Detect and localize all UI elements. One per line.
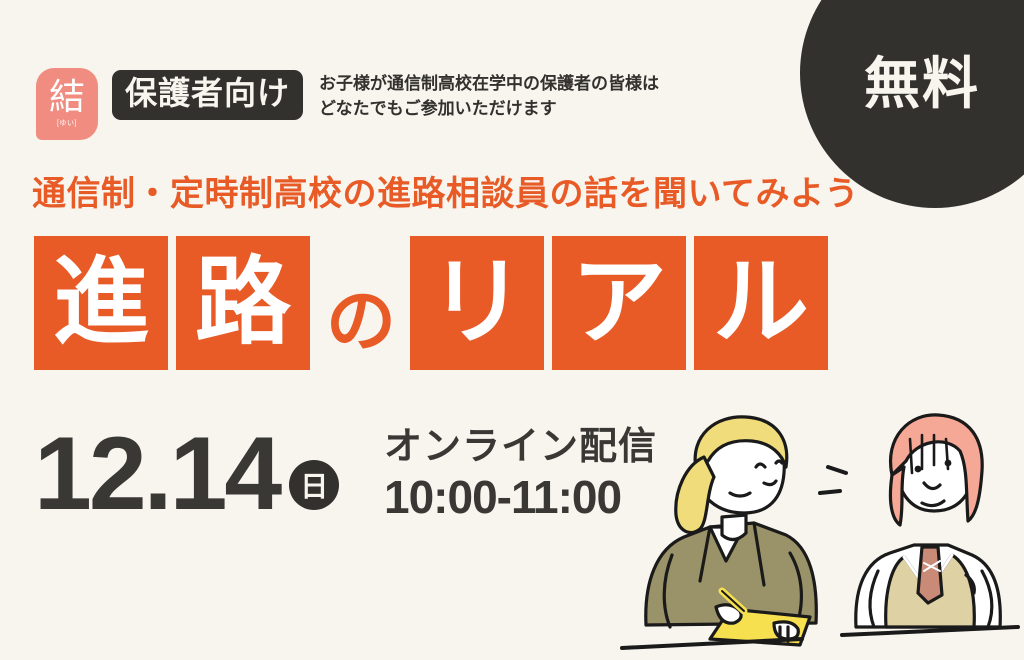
student-girl-figure [820,415,1018,635]
title-char-5: ア [552,236,686,370]
surprise-mark-2 [820,491,840,493]
brand-logo: 結 [ゆい] [36,68,98,140]
counselor-ponytail [676,457,714,533]
title-char-4: リ [410,236,544,370]
surprise-mark-1 [828,467,846,473]
illustration [604,395,1024,660]
audience-note-line-2: どなたでもご参加いただけます [319,97,659,122]
student-eye-right [945,460,952,467]
student-hair-side [890,467,904,525]
title-char-3: の [318,236,404,370]
weekday-badge: 日 [289,460,339,510]
title-char-1: 進 [34,236,168,370]
audience-pill: 保護者向け [112,70,303,120]
audience-note-line-1: お子様が通信制高校在学中の保護者の皆様は [319,72,659,97]
session-time: 10:00-11:00 [384,472,657,523]
title-char-2: 路 [176,236,310,370]
student-necktie [918,547,942,603]
student-eye-left [915,466,922,473]
free-badge-label: 無料 [864,56,980,112]
title-char-6: ル [694,236,828,370]
session-mode: オンライン配信 [384,428,657,468]
counselor-neck [722,515,746,540]
brand-logo-kanji: 結 [49,80,85,116]
event-date: 12.14 [34,428,279,522]
counselor-hand-right [774,622,798,639]
lead-copy: 通信制・定時制高校の進路相談員の話を聞いてみよう [32,176,859,213]
session-block: オンライン配信 10:00-11:00 [384,428,657,522]
header-row: 結 [ゆい] 保護者向け お子様が通信制高校在学中の保護者の皆様は どなたでもご… [36,66,659,140]
brand-logo-ruby: [ゆい] [57,120,77,127]
event-date-block: 12.14 日 [34,428,339,522]
main-title: 進 路 の リ ア ル [34,236,836,370]
audience-note: お子様が通信制高校在学中の保護者の皆様は どなたでもご参加いただけます [319,72,659,121]
event-poster: 無料 結 [ゆい] 保護者向け お子様が通信制高校在学中の保護者の皆様は どなた… [0,0,1024,660]
